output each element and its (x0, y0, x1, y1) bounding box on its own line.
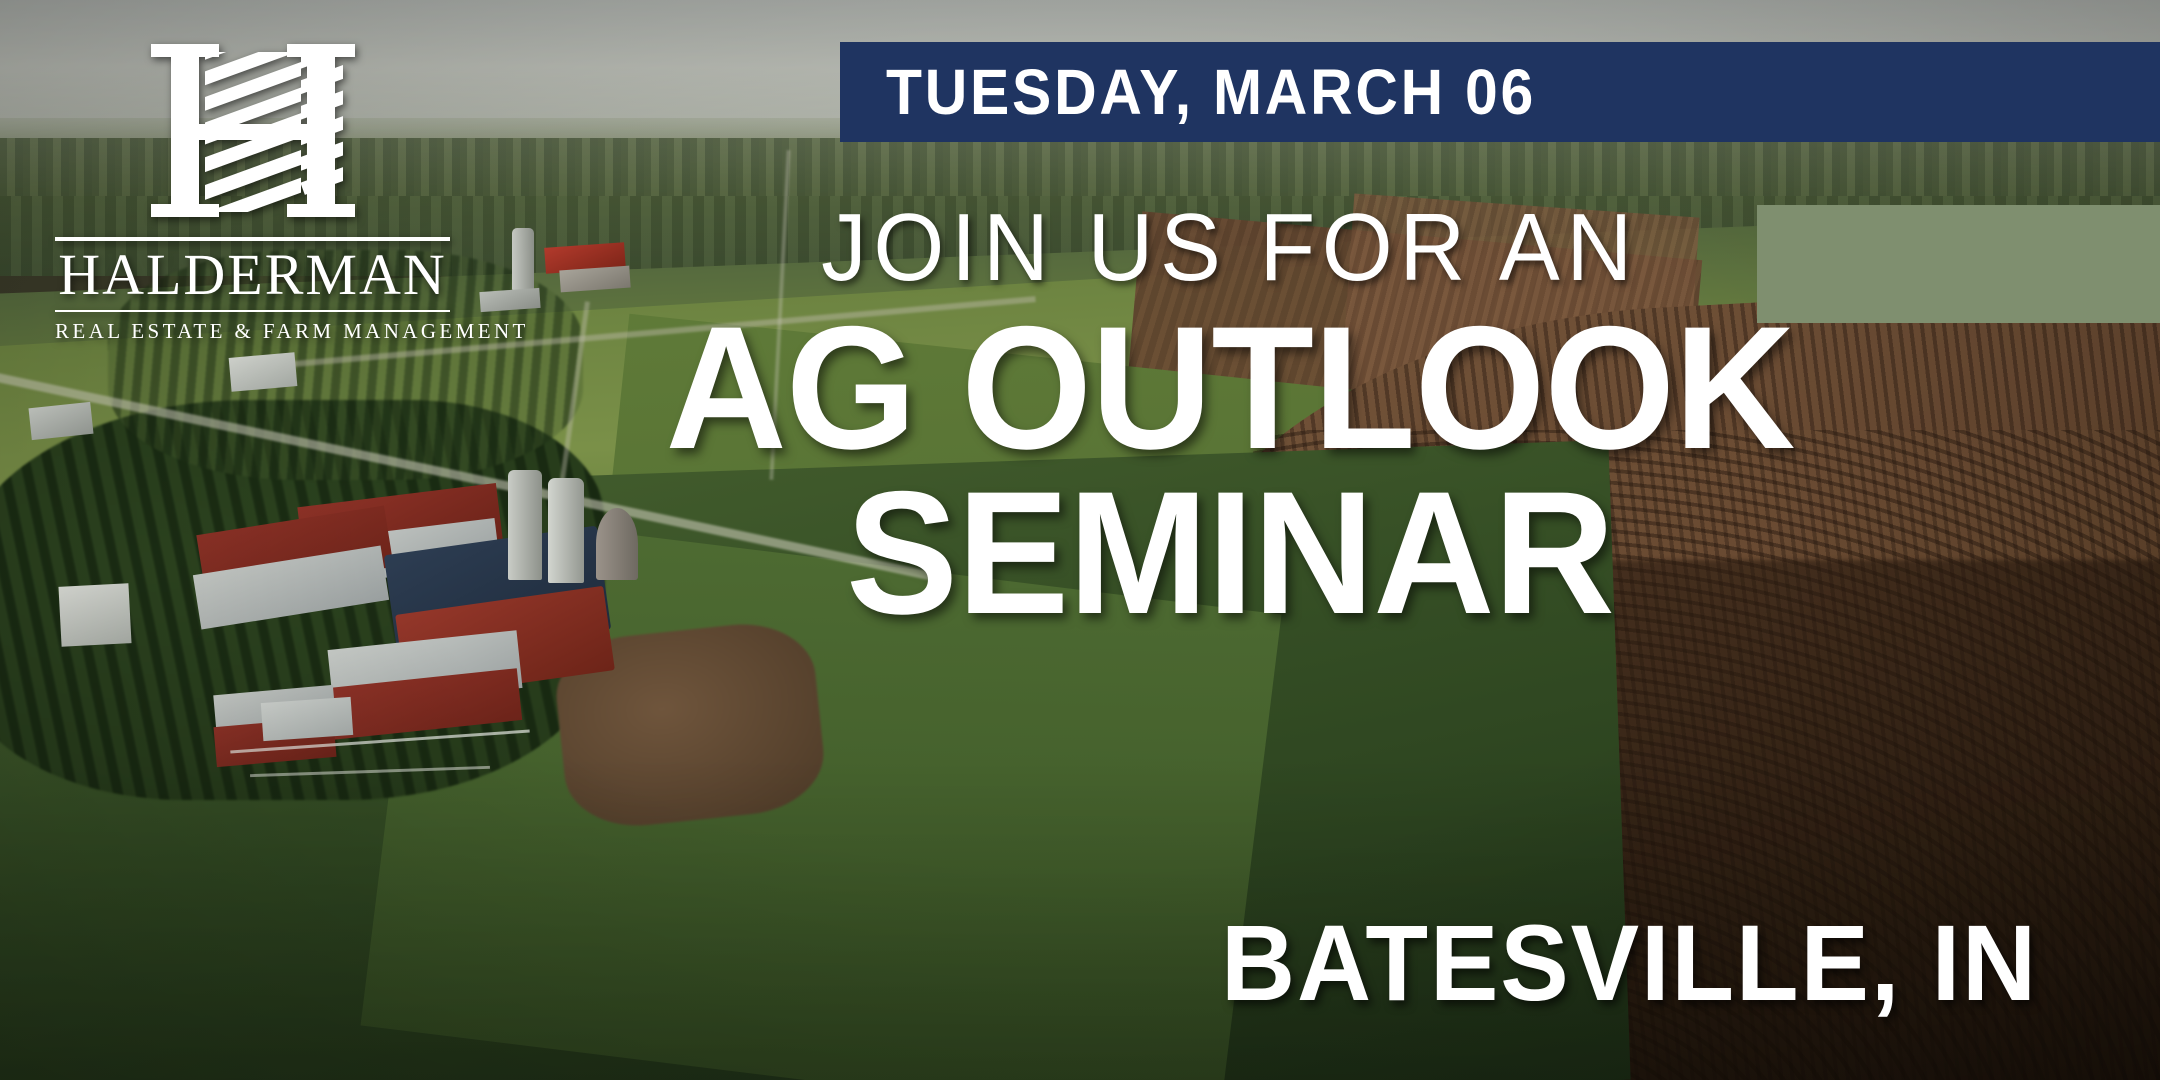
halderman-h-monogram-icon (133, 38, 373, 223)
location-text: BATESVILLE, IN (1221, 900, 2038, 1025)
date-banner: TUESDAY, MARCH 06 (840, 42, 2160, 142)
date-banner-text: TUESDAY, MARCH 06 (886, 55, 1536, 129)
event-promo-poster: TUESDAY, MARCH 06 (0, 0, 2160, 1080)
headline-kicker: JOIN US FOR AN (347, 200, 2114, 296)
headline-title-line-1: AG OUTLOOK (337, 308, 2123, 469)
headline-block: JOIN US FOR AN AG OUTLOOK SEMINAR (0, 200, 2160, 634)
headline-title-line-2: SEMINAR (337, 473, 2123, 634)
